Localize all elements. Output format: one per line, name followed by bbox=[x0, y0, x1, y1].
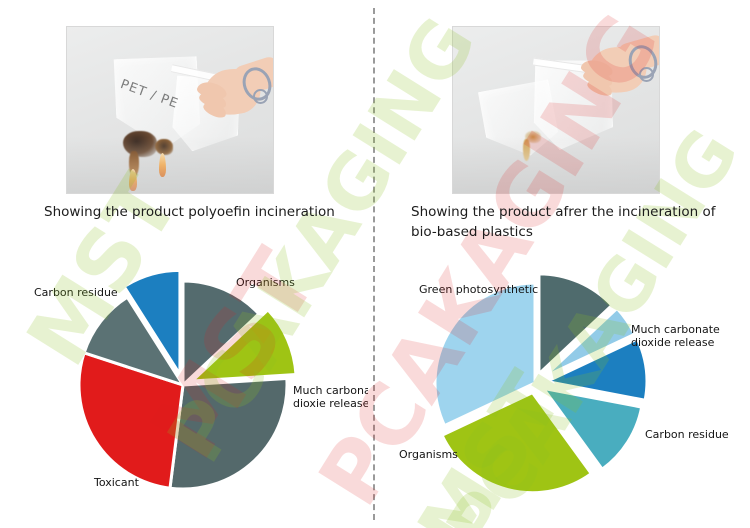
pie-label-carbon-residue: Carbon residue bbox=[34, 286, 118, 299]
soot-mark-small bbox=[155, 139, 173, 155]
pie-chart-polyolefin: OrganismsMuch carbonatedioxie releaseTox… bbox=[8, 258, 368, 520]
right-panel: Showing the product afrer the incinerati… bbox=[375, 0, 750, 528]
flame-left bbox=[129, 169, 137, 191]
soot-mark-large bbox=[123, 131, 157, 157]
panel-divider bbox=[373, 8, 375, 520]
pie-label-green-photosynthetic: Green photosynthetic bbox=[419, 283, 538, 296]
residue-mark bbox=[525, 131, 541, 143]
caption-right: Showing the product afrer the incinerati… bbox=[411, 203, 731, 242]
photo-backdrop: PET / PE bbox=[67, 27, 273, 193]
comparison-infographic: MST PCAKAGING MST PCAKAGING MST PCAKAGIN… bbox=[0, 0, 750, 528]
pie-label-toxicant: Toxicant bbox=[93, 476, 140, 489]
caption-left: Showing the product polyoefin incinerati… bbox=[44, 203, 354, 223]
left-panel: PET / PE Showing the product polyoefin i… bbox=[0, 0, 375, 528]
bracelet-charm bbox=[639, 67, 654, 82]
pie-label-organisms: Organisms bbox=[236, 276, 295, 289]
pie-slice-much-carbonate-dioxie-release bbox=[170, 378, 287, 489]
pie-label-much-carbonate-dioxie-release: Much carbonatedioxie release bbox=[293, 384, 368, 410]
photo-polyolefin-incineration: PET / PE bbox=[66, 26, 274, 194]
pie-chart-biobased: Much carbonatedioxide releaseCarbon resi… bbox=[383, 258, 748, 520]
bracelet-charm bbox=[253, 89, 268, 104]
flame-right bbox=[159, 153, 166, 177]
pie-label-organisms: Organisms bbox=[399, 448, 458, 461]
chart-biobased: Much carbonatedioxide releaseCarbon resi… bbox=[383, 258, 748, 520]
photo-backdrop bbox=[453, 27, 659, 193]
chart-polyolefin: OrganismsMuch carbonatedioxie releaseTox… bbox=[8, 258, 368, 520]
pie-label-carbon-residue: Carbon residue bbox=[645, 428, 729, 441]
pie-label-much-carbonate-dioxide-release: Much carbonatedioxide release bbox=[631, 323, 720, 349]
drip-residue bbox=[523, 139, 530, 161]
photo-biobased-incineration bbox=[452, 26, 660, 194]
drip-residue bbox=[129, 151, 139, 177]
